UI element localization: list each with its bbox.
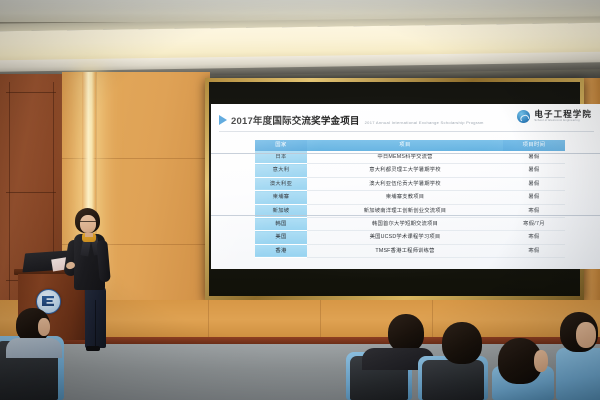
table-row: 意大利意大利都灵理工大学暑期学校暑假 [255, 164, 565, 177]
table-row: 澳大利亚澳大利亚伍伦贡大学暑期学校暑假 [255, 177, 565, 190]
screen-seam-upper [211, 153, 600, 154]
school-name-cn: 电子工程学院 [534, 110, 592, 119]
header-divider [219, 131, 594, 132]
speaker-shoe [86, 346, 100, 351]
lecture-hall-scene: 2017年度国际交流奖学金项目 2017 Annual Internationa… [0, 0, 600, 400]
presentation-slide: 2017年度国际交流奖学金项目 2017 Annual Internationa… [211, 104, 600, 269]
triangle-play-icon [219, 115, 227, 125]
cell-country: 美国 [255, 231, 307, 244]
cell-time: 寒假 [503, 231, 565, 244]
speaker-glasses [79, 221, 96, 225]
school-logo: 电子工程学院 School of Electronic Engineering [517, 110, 592, 123]
cell-program: 韩国首尔大学短期交流项目 [307, 218, 503, 231]
audience-head [442, 322, 482, 364]
table-row: 韩国韩国首尔大学短期交流项目寒假/7月 [255, 218, 565, 231]
cell-country: 韩国 [255, 218, 307, 231]
table-row: 香港TMSF香港工程师训练营寒假 [255, 244, 565, 257]
audience-head [388, 314, 424, 352]
table-header-row: 国家 项目 项目时间 [255, 140, 565, 151]
cell-program: 美国UCSD学术课程学习项目 [307, 231, 503, 244]
school-emblem-icon [517, 110, 530, 123]
cell-country: 香港 [255, 244, 307, 257]
cell-time: 暑假 [503, 164, 565, 177]
cell-time: 暑假 [503, 191, 565, 204]
audience-face [38, 318, 50, 336]
cell-country: 澳大利亚 [255, 177, 307, 190]
scholarship-table: 国家 项目 项目时间 日本中日MEMS科学交流营暑假意大利意大利都灵理工大学暑期… [255, 140, 565, 258]
column-header-country: 国家 [255, 140, 307, 151]
cell-time: 寒假 [503, 244, 565, 257]
cell-country: 意大利 [255, 164, 307, 177]
slide-subtitle: 2017 Annual International Exchange Schol… [365, 120, 484, 125]
column-header-time: 项目时间 [503, 140, 565, 151]
cell-program: 澳大利亚伍伦贡大学暑期学校 [307, 177, 503, 190]
school-name-en: School of Electronic Engineering [534, 120, 592, 123]
cell-country: 柬埔寨 [255, 191, 307, 204]
column-header-program: 项目 [307, 140, 503, 151]
audience-face [534, 350, 548, 372]
speaker-leg-seam [95, 300, 96, 346]
audience-seat [422, 360, 484, 400]
screen-seam-lower [211, 215, 600, 216]
slide-title: 2017年度国际交流奖学金项目 [231, 113, 360, 127]
audience-shoulders [6, 338, 62, 358]
cell-program: TMSF香港工程师训练营 [307, 244, 503, 257]
cell-time: 寒假/7月 [503, 218, 565, 231]
table-row: 柬埔寨柬埔寨支教项目暑假 [255, 191, 565, 204]
audience-face [576, 322, 596, 348]
table-row: 美国美国UCSD学术课程学习项目寒假 [255, 231, 565, 244]
seat-edge [556, 348, 600, 400]
cell-program: 柬埔寨支教项目 [307, 191, 503, 204]
cell-time: 暑假 [503, 177, 565, 190]
cell-program: 意大利都灵理工大学暑期学校 [307, 164, 503, 177]
